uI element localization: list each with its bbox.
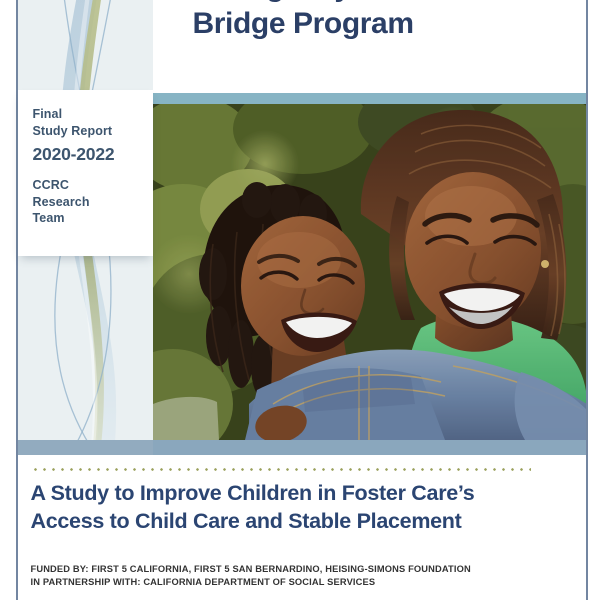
report-label-line-1: Final [33, 106, 153, 123]
bottom-text-area: A Study to Improve Children in Foster Ca… [18, 455, 587, 600]
document-subtitle-line-1: A Study to Improve Children in Foster Ca… [31, 479, 571, 507]
team-line-2: Research [33, 194, 153, 211]
cover-photo-illustration [153, 104, 587, 440]
document-cover-page: Final Study Report 2020-2022 CCRC Resear… [0, 0, 600, 600]
funded-by-line: FUNDED BY: FIRST 5 CALIFORNIA, FIRST 5 S… [31, 563, 576, 576]
info-card-spacer [33, 169, 153, 177]
funding-credits: FUNDED BY: FIRST 5 CALIFORNIA, FIRST 5 S… [31, 563, 576, 589]
cover-photo [153, 104, 587, 440]
document-subtitle-line-2: Access to Child Care and Stable Placemen… [31, 507, 571, 535]
dotted-divider [31, 468, 531, 471]
report-info-card: Final Study Report 2020-2022 CCRC Resear… [18, 90, 153, 256]
team-line-3: Team [33, 210, 153, 227]
report-label-line-2: Study Report [33, 123, 153, 140]
document-subtitle: A Study to Improve Children in Foster Ca… [31, 479, 571, 535]
document-title-line-2: Bridge Program [193, 5, 593, 42]
document-title: Emergency Child Care Bridge Program [193, 0, 593, 42]
team-line-1: CCRC [33, 177, 153, 194]
photo-top-band [153, 93, 587, 104]
under-photo-band-left [18, 440, 153, 455]
partnership-line: IN PARTNERSHIP WITH: CALIFORNIA DEPARTME… [31, 576, 576, 589]
page-border-right [586, 0, 588, 600]
title-block: Emergency Child Care Bridge Program [153, 0, 587, 93]
report-years: 2020-2022 [33, 139, 153, 169]
